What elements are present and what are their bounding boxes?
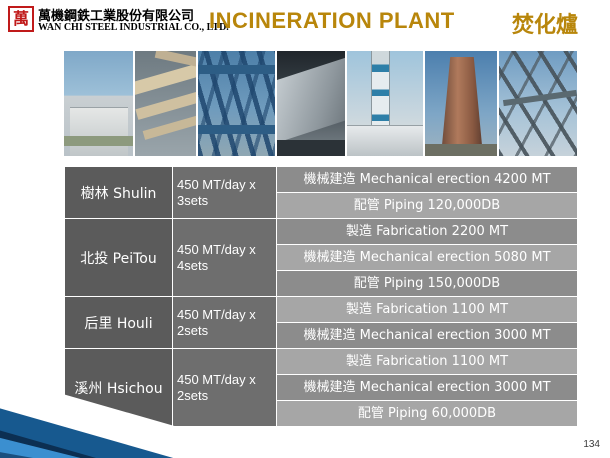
photo-metal-facade <box>277 51 345 156</box>
ribbon-navy <box>0 442 270 458</box>
capacity-cell: 450 MT/day x 3sets <box>173 167 277 219</box>
scope-cell: 機械建造 Mechanical erection 3000 MT <box>277 323 578 349</box>
page-title-chinese: 焚化爐 <box>512 7 578 39</box>
scope-cell: 配管 Piping 60,000DB <box>277 401 578 427</box>
photo-steel-girders <box>135 51 196 156</box>
photo-brick-chimney <box>425 51 497 156</box>
site-name-cell: 后里 Houli <box>65 297 173 349</box>
ribbon-light-blue <box>0 425 268 458</box>
scope-cell: 製造 Fabrication 2200 MT <box>277 219 578 245</box>
site-name-cell: 樹林 Shulin <box>65 167 173 219</box>
capacity-cell: 450 MT/day x 2sets <box>173 297 277 349</box>
capacity-cell: 450 MT/day x 2sets <box>173 349 277 427</box>
scope-cell: 機械建造 Mechanical erection 4200 MT <box>277 167 578 193</box>
scope-cell: 製造 Fabrication 1100 MT <box>277 297 578 323</box>
photo-steel-frame <box>499 51 577 156</box>
company-logo: 萬 <box>8 6 34 32</box>
scope-cell: 機械建造 Mechanical erection 3000 MT <box>277 375 578 401</box>
slide-header: 萬 萬機鋼鉄工業股份有限公司 WAN CHI STEEL INDUSTRIAL … <box>0 0 610 42</box>
projects-table: 樹林 Shulin 450 MT/day x 3sets 機械建造 Mechan… <box>64 166 578 427</box>
capacity-cell: 450 MT/day x 4sets <box>173 219 277 297</box>
photo-gallery <box>64 51 577 156</box>
scope-cell: 配管 Piping 150,000DB <box>277 271 578 297</box>
page-number: 134 <box>583 439 600 450</box>
scope-cell: 配管 Piping 120,000DB <box>277 193 578 219</box>
logo-glyph: 萬 <box>10 8 32 30</box>
scope-cell: 製造 Fabrication 1100 MT <box>277 349 578 375</box>
site-name-cell: 溪州 Hsichou <box>65 349 173 427</box>
company-name-english: WAN CHI STEEL INDUSTRIAL CO., LTD. <box>38 22 229 33</box>
photo-striped-chimney <box>347 51 423 156</box>
site-name-cell: 北投 PeiTou <box>65 219 173 297</box>
table-row: 北投 PeiTou 450 MT/day x 4sets 製造 Fabricat… <box>65 219 578 245</box>
projects-table-container: 樹林 Shulin 450 MT/day x 3sets 機械建造 Mechan… <box>64 166 577 427</box>
table-row: 樹林 Shulin 450 MT/day x 3sets 機械建造 Mechan… <box>65 167 578 193</box>
scope-cell: 機械建造 Mechanical erection 5080 MT <box>277 245 578 271</box>
table-row: 溪州 Hsichou 450 MT/day x 2sets 製造 Fabrica… <box>65 349 578 375</box>
photo-factory-building <box>64 51 133 156</box>
photo-blue-truss-bridge <box>198 51 275 156</box>
table-row: 后里 Houli 450 MT/day x 2sets 製造 Fabricati… <box>65 297 578 323</box>
page-title: INCINERATION PLANT <box>209 8 455 34</box>
